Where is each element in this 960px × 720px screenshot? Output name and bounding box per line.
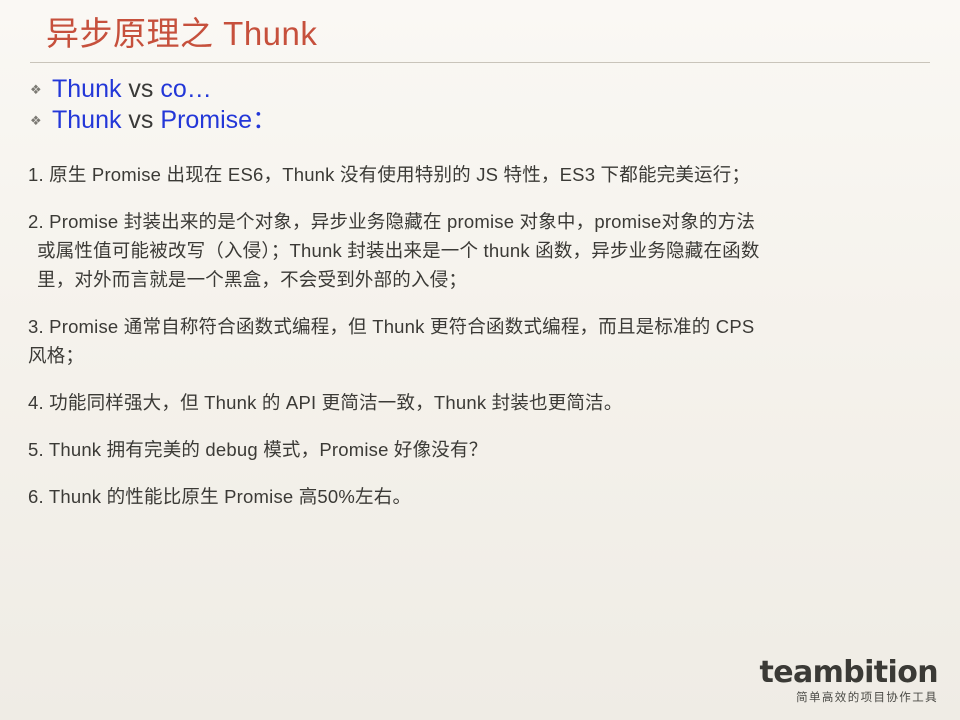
title-divider [30, 62, 930, 63]
page-title: 异步原理之 Thunk [46, 12, 317, 56]
paragraph-6: 6. Thunk 的性能比原生 Promise 高50%左右。 [28, 482, 938, 511]
bullet-1-part2: Promise [160, 106, 252, 134]
paragraph-3-line-1: 3. Promise 通常自称符合函数式编程，但 Thunk 更符合函数式编程，… [28, 312, 938, 341]
diamond-bullet-icon: ❖ [30, 105, 52, 136]
list-item: ❖ Thunk vs Promise： [30, 105, 910, 136]
paragraph-3-line-2: 风格； [28, 341, 938, 370]
paragraph-2-line-1: 2. Promise 封装出来的是个对象，异步业务隐藏在 promise 对象中… [28, 207, 938, 236]
bullet-0-middle: vs [121, 75, 160, 103]
page-title-cjk: 异步原理之 [46, 14, 214, 53]
paragraph-2-line-2: 或属性值可能被改写（入侵）；Thunk 封装出来是一个 thunk 函数，异步业… [28, 236, 938, 265]
bullet-1-part1: Thunk [52, 106, 121, 134]
list-item: ❖ Thunk vs co… [30, 74, 910, 105]
body-content: 1. 原生 Promise 出现在 ES6，Thunk 没有使用特别的 JS 特… [28, 160, 938, 529]
bullet-item-label: Thunk vs Promise： [52, 105, 277, 136]
diamond-bullet-icon: ❖ [30, 74, 52, 105]
paragraph-4: 4. 功能同样强大，但 Thunk 的 API 更简洁一致，Thunk 封装也更… [28, 388, 938, 417]
teambition-logo: teambition [759, 657, 938, 689]
paragraph-5-line-1: 5. Thunk 拥有完美的 debug 模式，Promise 好像没有？ [28, 435, 938, 464]
bullet-item-label: Thunk vs co… [52, 74, 212, 105]
bullet-0-part2: co… [160, 75, 211, 103]
paragraph-2-line-3: 里，对外而言就是一个黑盒，不会受到外部的入侵； [28, 265, 938, 294]
paragraph-6-line-1: 6. Thunk 的性能比原生 Promise 高50%左右。 [28, 482, 938, 511]
bullet-0-part1: Thunk [52, 75, 121, 103]
footer-branding: teambition 简单高效的项目协作工具 [759, 657, 938, 706]
paragraph-5: 5. Thunk 拥有完美的 debug 模式，Promise 好像没有？ [28, 435, 938, 464]
paragraph-1-line-1: 1. 原生 Promise 出现在 ES6，Thunk 没有使用特别的 JS 特… [28, 160, 938, 189]
bullet-list: ❖ Thunk vs co… ❖ Thunk vs Promise： [30, 74, 910, 136]
paragraph-4-line-1: 4. 功能同样强大，但 Thunk 的 API 更简洁一致，Thunk 封装也更… [28, 388, 938, 417]
slide-canvas: 异步原理之 Thunk ❖ Thunk vs co… ❖ Thunk vs Pr… [0, 0, 960, 720]
paragraph-3: 3. Promise 通常自称符合函数式编程，但 Thunk 更符合函数式编程，… [28, 312, 938, 370]
bullet-1-middle: vs [121, 106, 160, 134]
brand-tagline: 简单高效的项目协作工具 [759, 690, 938, 706]
bullet-1-suffix: ： [252, 106, 277, 134]
paragraph-1: 1. 原生 Promise 出现在 ES6，Thunk 没有使用特别的 JS 特… [28, 160, 938, 189]
paragraph-2: 2. Promise 封装出来的是个对象，异步业务隐藏在 promise 对象中… [28, 207, 938, 294]
page-title-en: Thunk [223, 15, 317, 52]
